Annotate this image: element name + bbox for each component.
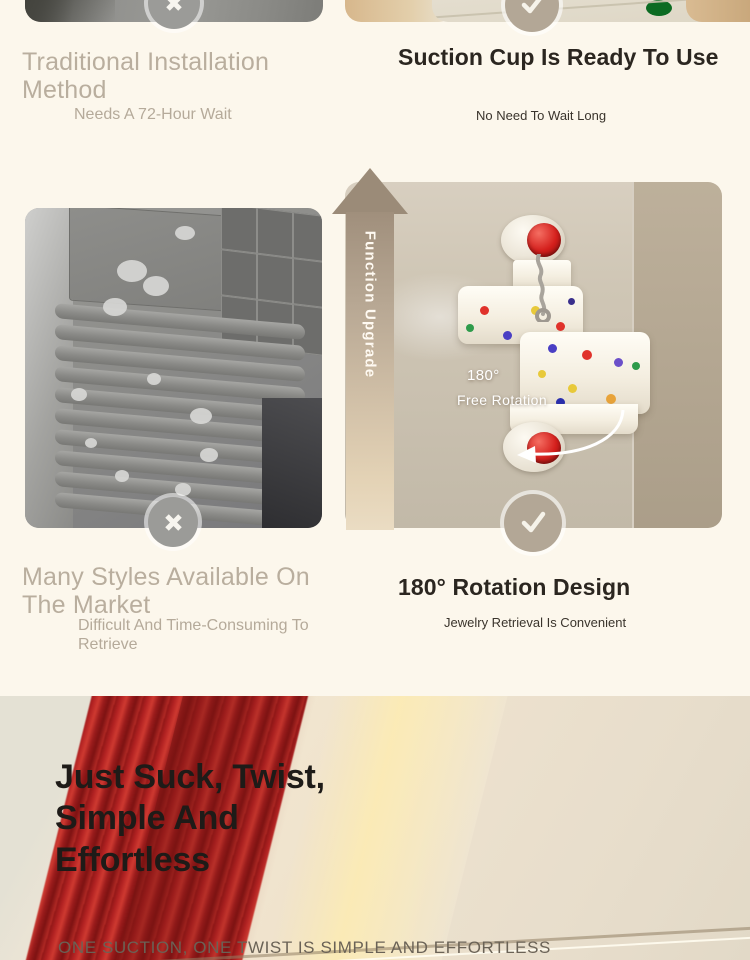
top-image-strip: [0, 0, 750, 22]
rotation-degrees-label: 180°: [467, 367, 500, 384]
traditional-method-title: Traditional Installation Method: [22, 48, 352, 104]
rotation-design-subtitle: Jewelry Retrieval Is Convenient: [398, 615, 728, 631]
function-upgrade-arrow: Function Upgrade: [332, 168, 408, 530]
check-badge-icon-mid: [504, 494, 562, 552]
cross-badge-icon-mid: [148, 497, 198, 547]
rotation-arrow-icon: [473, 404, 628, 466]
function-upgrade-label: Function Upgrade: [362, 231, 379, 379]
rotation-design-title: 180° Rotation Design: [398, 574, 728, 601]
many-styles-title: Many Styles Available On The Market: [22, 563, 352, 619]
top-image-suction-cup: [432, 0, 722, 22]
product-detail-page: Traditional Installation Method Needs A …: [0, 0, 750, 960]
tray-shadow-edge: [262, 398, 322, 528]
jewelry-tray-image: [25, 208, 322, 528]
many-styles-subtitle: Difficult And Time-Consuming To Retrieve: [22, 617, 352, 655]
check-badge-icon: [505, 0, 559, 32]
arrow-head-icon: [332, 168, 408, 214]
suction-ready-title: Suction Cup Is Ready To Use: [398, 44, 728, 71]
free-rotation-label: Free Rotation: [457, 392, 547, 408]
chain-hook-icon: [523, 254, 559, 322]
cross-badge-icon: [148, 0, 200, 29]
hero-subtitle: ONE SUCTION, ONE TWIST IS SIMPLE AND EFF…: [58, 938, 551, 958]
suction-ready-subtitle: No Need To Wait Long: [398, 108, 728, 124]
hero-title: Just Suck, Twist, Simple And Effortless: [55, 757, 355, 881]
top-image-edge: [686, 0, 750, 22]
traditional-method-subtitle: Needs A 72-Hour Wait: [22, 106, 352, 125]
